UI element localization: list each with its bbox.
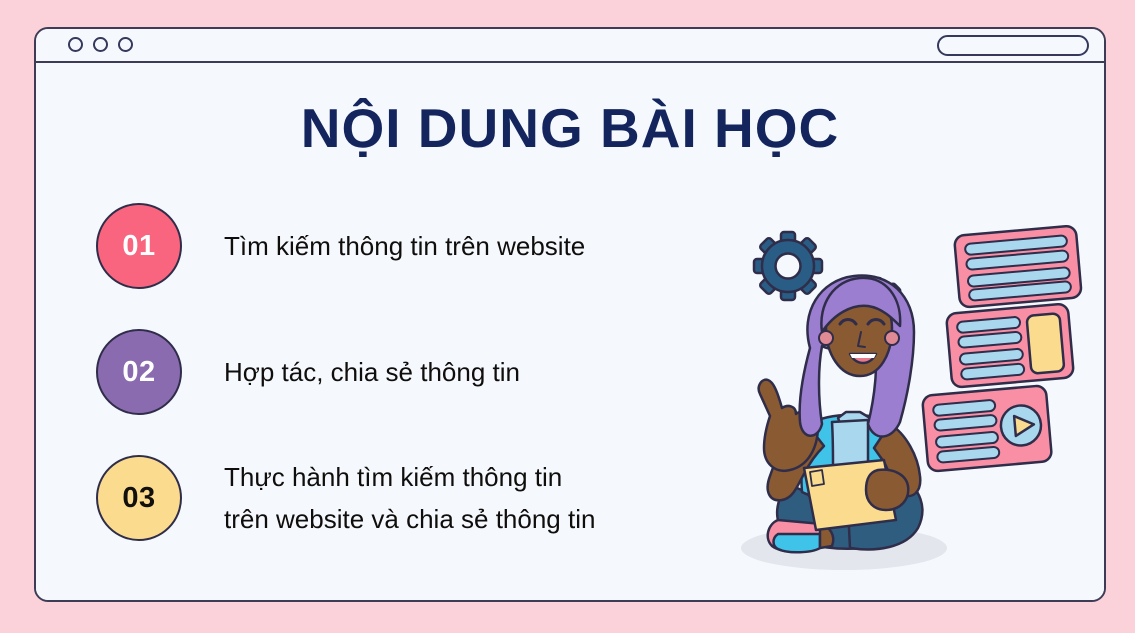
item-number-badge: 02 xyxy=(96,329,182,415)
lesson-content-list: 01 Tìm kiếm thông tin trên website 02 Hợ… xyxy=(96,203,736,541)
hand-right xyxy=(866,470,908,510)
ear-right xyxy=(885,331,899,345)
item-number-badge: 03 xyxy=(96,455,182,541)
content-card-3 xyxy=(922,385,1052,472)
item-text: Hợp tác, chia sẻ thông tin xyxy=(224,351,520,393)
slide-canvas: NỘI DUNG BÀI HỌC 01 Tìm kiếm thông tin t… xyxy=(0,0,1135,633)
item-text: Tìm kiếm thông tin trên website xyxy=(224,225,585,267)
list-item[interactable]: 01 Tìm kiếm thông tin trên website xyxy=(96,203,736,289)
item-text-line: Thực hành tìm kiếm thông tin xyxy=(224,456,595,498)
window-controls xyxy=(68,37,133,52)
item-text-line: Tìm kiếm thông tin trên website xyxy=(224,225,585,267)
shoe-sole xyxy=(774,534,821,552)
browser-titlebar xyxy=(36,29,1104,63)
slide-content-area: NỘI DUNG BÀI HỌC 01 Tìm kiếm thông tin t… xyxy=(36,63,1104,600)
item-text: Thực hành tìm kiếm thông tin trên websit… xyxy=(224,456,595,540)
card-thumbnail xyxy=(1026,313,1064,374)
content-card-2 xyxy=(946,303,1074,387)
window-dot-close-icon[interactable] xyxy=(68,37,83,52)
window-dot-minimize-icon[interactable] xyxy=(93,37,108,52)
page-title: NỘI DUNG BÀI HỌC xyxy=(36,100,1104,158)
person-with-tablet-illustration xyxy=(726,208,1106,598)
item-text-line: Hợp tác, chia sẻ thông tin xyxy=(224,351,520,393)
window-dot-maximize-icon[interactable] xyxy=(118,37,133,52)
teeth xyxy=(850,354,876,358)
item-number-badge: 01 xyxy=(96,203,182,289)
browser-window: NỘI DUNG BÀI HỌC 01 Tìm kiếm thông tin t… xyxy=(34,27,1106,602)
ear-left xyxy=(819,331,833,345)
list-item[interactable]: 02 Hợp tác, chia sẻ thông tin xyxy=(96,329,736,415)
person-figure xyxy=(759,276,923,553)
gear-blue-icon xyxy=(754,232,822,300)
list-item[interactable]: 03 Thực hành tìm kiếm thông tin trên web… xyxy=(96,455,736,541)
item-text-line: trên website và chia sẻ thông tin xyxy=(224,498,595,540)
content-card-1 xyxy=(954,225,1082,307)
address-bar-input[interactable] xyxy=(937,35,1089,56)
